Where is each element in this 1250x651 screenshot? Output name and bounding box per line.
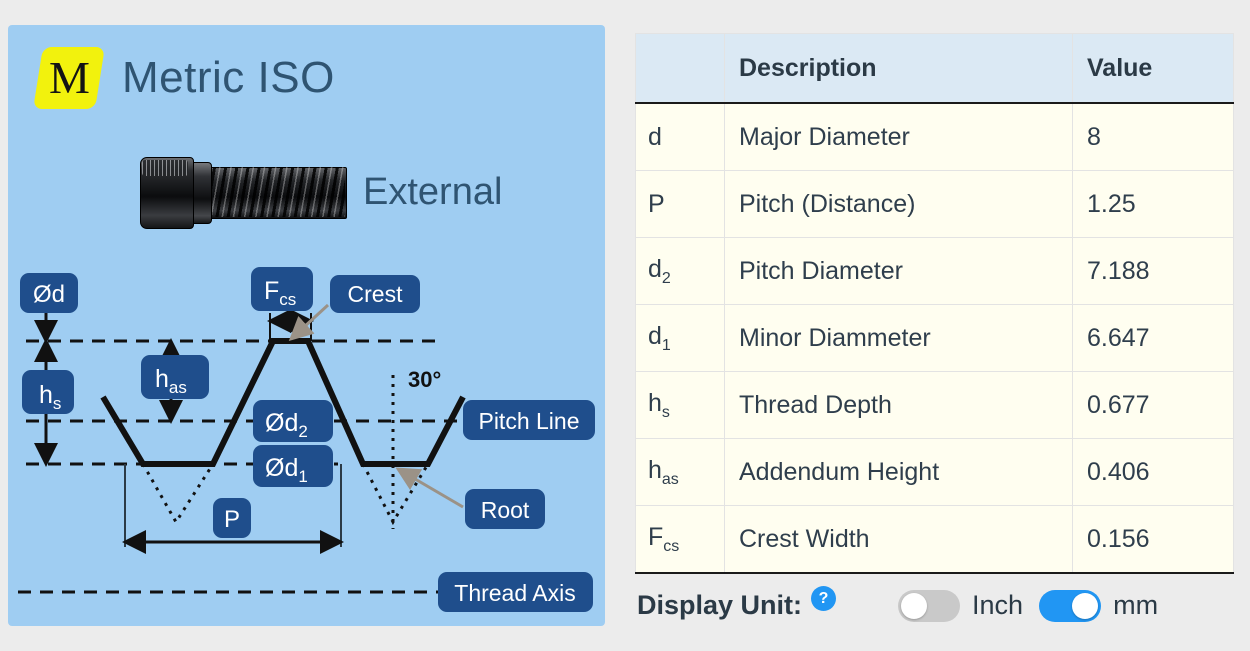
table-header-row: Description Value — [636, 34, 1234, 104]
column-header-symbol — [636, 34, 725, 104]
cell-value: 0.156 — [1073, 506, 1234, 574]
callout-thread-axis: Thread Axis — [438, 572, 593, 612]
svg-text:P: P — [224, 506, 240, 533]
table-row: d1Minor Diammeter6.647 — [636, 305, 1234, 372]
cell-symbol: Fcs — [636, 506, 725, 574]
cell-description: Pitch (Distance) — [725, 171, 1073, 238]
table-row: PPitch (Distance)1.25 — [636, 171, 1234, 238]
svg-text:Ød: Ød — [33, 281, 65, 308]
cell-description: Major Diameter — [725, 103, 1073, 171]
toggle-inch[interactable] — [898, 590, 960, 622]
callout-pitch-line: Pitch Line — [463, 400, 595, 440]
cell-value: 0.677 — [1073, 372, 1234, 439]
display-unit-label: Display Unit: — [637, 590, 802, 621]
cell-value: 8 — [1073, 103, 1234, 171]
thread-spec-table: Description Value dMajor Diameter8PPitch… — [635, 33, 1234, 574]
toggle-mm-knob — [1072, 593, 1098, 619]
svg-text:Root: Root — [481, 497, 530, 523]
column-header-value: Value — [1073, 34, 1234, 104]
standard-logo-row: M Metric ISO — [38, 47, 335, 109]
callout-crest-width: Fcs — [251, 267, 313, 311]
help-question-icon[interactable]: ? — [811, 586, 836, 611]
cell-description: Minor Diammeter — [725, 305, 1073, 372]
cell-value: 0.406 — [1073, 439, 1234, 506]
cell-symbol: has — [636, 439, 725, 506]
standard-title: Metric ISO — [122, 53, 335, 103]
table-row: hsThread Depth0.677 — [636, 372, 1234, 439]
cell-value: 7.188 — [1073, 238, 1234, 305]
table-row: dMajor Diameter8 — [636, 103, 1234, 171]
table-row: FcsCrest Width0.156 — [636, 506, 1234, 574]
thread-profile-drawing: 30° Ød hs has Fcs Crest Ød2 — [8, 257, 605, 626]
callout-pitch-diameter: Ød2 — [253, 400, 333, 442]
svg-text:Crest: Crest — [348, 281, 404, 307]
table-row: hasAddendum Height0.406 — [636, 439, 1234, 506]
display-unit-control: Display Unit: ? Inch mm — [637, 586, 1174, 625]
cell-symbol: d — [636, 103, 725, 171]
callout-root: Root — [465, 489, 545, 529]
cell-value: 1.25 — [1073, 171, 1234, 238]
callout-crest: Crest — [330, 275, 420, 313]
callout-minor-diameter: Ød1 — [253, 445, 333, 487]
callout-major-diameter: Ød — [20, 273, 78, 313]
bolt-illustration-row: External — [140, 153, 502, 231]
toggle-inch-knob — [901, 593, 927, 619]
cell-description: Pitch Diameter — [725, 238, 1073, 305]
table-row: d2Pitch Diameter7.188 — [636, 238, 1234, 305]
svg-text:Thread Axis: Thread Axis — [454, 580, 575, 606]
cell-value: 6.647 — [1073, 305, 1234, 372]
toggle-mm-label: mm — [1113, 590, 1158, 621]
thread-type-label: External — [363, 171, 502, 214]
hex-socket-cap-screw-icon — [140, 153, 345, 231]
callout-addendum-height: has — [141, 355, 209, 399]
callout-pitch: P — [213, 498, 251, 538]
cell-symbol: d1 — [636, 305, 725, 372]
cell-symbol: hs — [636, 372, 725, 439]
cell-symbol: d2 — [636, 238, 725, 305]
column-header-description: Description — [725, 34, 1073, 104]
table-body: dMajor Diameter8PPitch (Distance)1.25d2P… — [636, 103, 1234, 573]
svg-text:Pitch Line: Pitch Line — [478, 408, 579, 434]
callout-thread-depth: hs — [22, 370, 74, 414]
toggle-mm[interactable] — [1039, 590, 1101, 622]
toggle-inch-label: Inch — [972, 590, 1023, 621]
cell-description: Thread Depth — [725, 372, 1073, 439]
cell-symbol: P — [636, 171, 725, 238]
metric-badge-letter: M — [49, 55, 90, 101]
flank-angle-label: 30° — [408, 367, 441, 392]
cell-description: Crest Width — [725, 506, 1073, 574]
cell-description: Addendum Height — [725, 439, 1073, 506]
thread-diagram-panel: M Metric ISO External — [8, 25, 605, 626]
metric-badge-icon: M — [33, 47, 105, 109]
